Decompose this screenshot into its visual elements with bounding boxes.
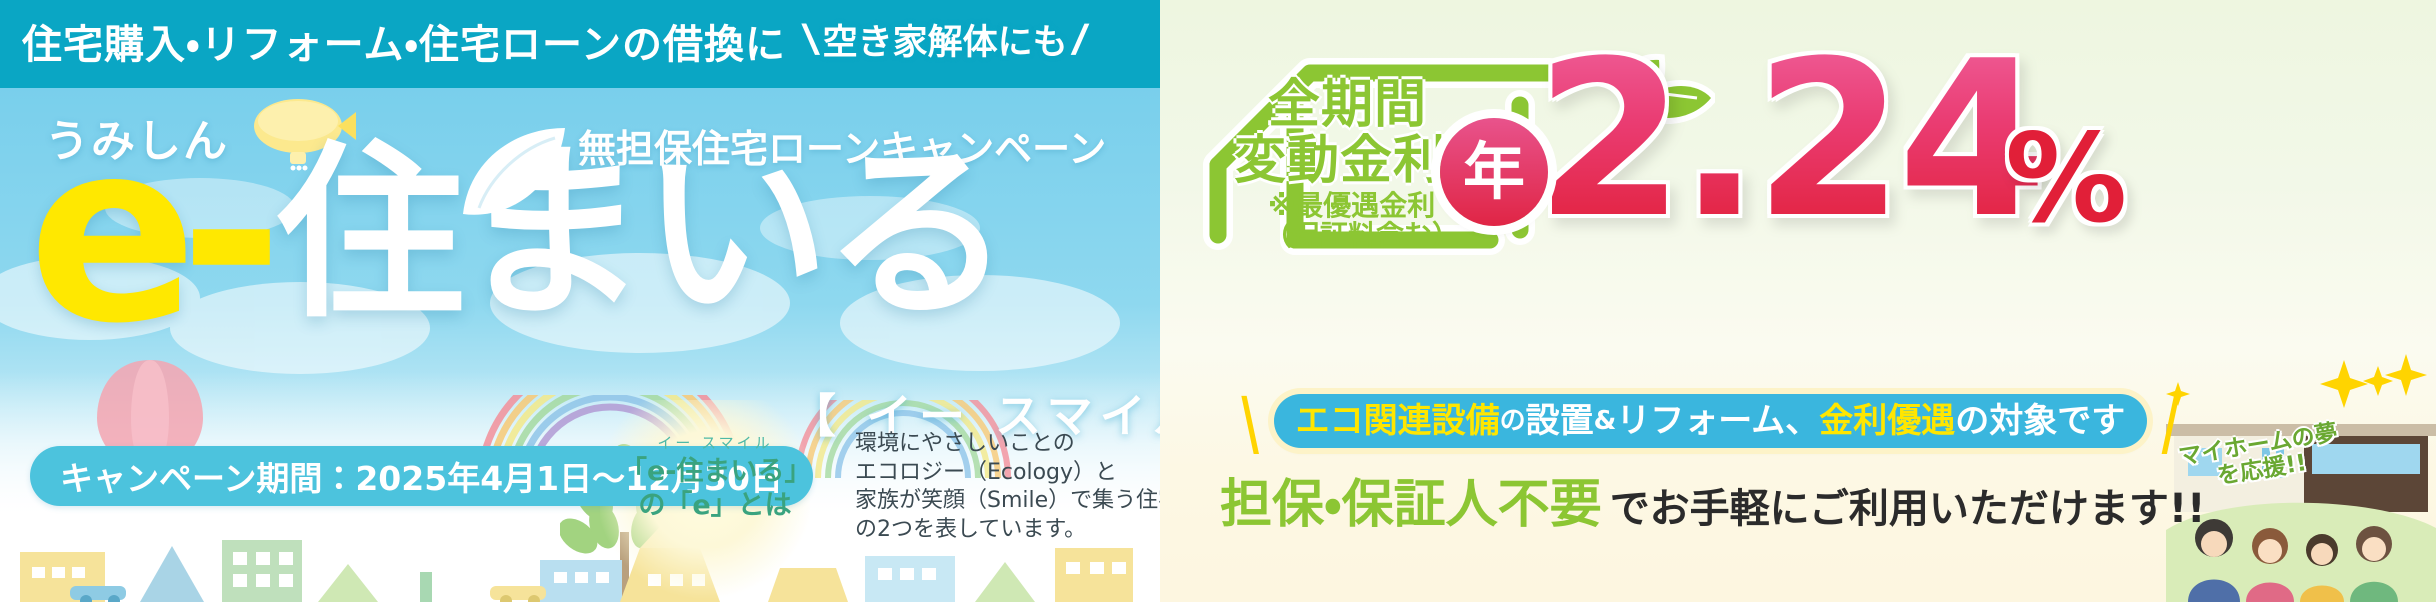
eco-seg5: リフォーム、 [1616, 404, 1819, 438]
percent-sign: % [2005, 118, 2127, 240]
eco-seg4: & [1594, 408, 1617, 434]
logo-dash: - [180, 135, 284, 330]
rate-unit-badge: 年 [1440, 118, 1548, 226]
eco-seg3: 設置 [1526, 404, 1594, 438]
logo-sumairu: 住まいる [277, 135, 1005, 335]
eco-seg1: エコ関連設備 [1296, 404, 1500, 438]
bank-loan-campaign-banner: 住宅購入・リフォーム・住宅ローンの借換に \ 空き家解体にも / うみしん e … [0, 0, 2436, 602]
house-badge-note2: （保証料含む） [1264, 214, 1460, 254]
ribbon-spark-right-icon: ❙ [2152, 392, 2191, 450]
headline-text: 住宅購入・リフォーム・住宅ローンの借換に [22, 12, 786, 70]
right-rate-panel: 全期間 変動金利型 ※最優遇金利 （保証料含む） 年 2.24 % ❙ [1160, 0, 2436, 602]
explain-line2: の「e」とは [620, 489, 810, 523]
explain-body: 環境にやさしいことの エコロジー（Ecology）と 家族が笑顔（Smile）で… [855, 430, 1155, 544]
left-campaign-panel: 住宅購入・リフォーム・住宅ローンの借換に \ 空き家解体にも / うみしん e … [0, 0, 1160, 602]
eco-seg2: の [1500, 408, 1526, 434]
tagline-highlight: 担保・保証人不要 [1220, 462, 1602, 537]
explain-body-line: 家族が笑顔（Smile）で集う住宅 [855, 487, 1155, 516]
rate-unit-label: 年 [1463, 141, 1525, 203]
sparkle-icon [2166, 354, 2427, 408]
explain-line1: 「e-住まいる」 [620, 455, 810, 489]
explain-body-line: 環境にやさしいことの [855, 430, 1155, 459]
explain-body-line: の2つを表しています。 [855, 516, 1155, 545]
leaf-icon [455, 122, 575, 232]
tagline-rest: でお手軽にご利用いただけます!! [1610, 476, 2206, 534]
interest-rate-value: 2.24 [1535, 32, 2041, 247]
explain-body-line: エコロジー（Ecology）と [855, 459, 1155, 488]
loan-tagline: 担保・保証人不要 でお手軽にご利用いただけます!! [1220, 462, 2205, 537]
explain-heading: イー スマイル 「e-住まいる」 の「e」とは [620, 432, 810, 523]
eco-ribbon-banner: ❙ エコ関連設備 の 設置 & リフォーム、 金利優遇 の対象です ❙ [1225, 392, 2196, 450]
akiya-badge: \ 空き家解体にも / [805, 14, 1085, 65]
eco-seg6: 金利優遇 [1819, 404, 1955, 438]
logo-letter-e: e [28, 135, 198, 330]
explain-ruby: イー スマイル [620, 432, 810, 453]
eco-ribbon-pill: エコ関連設備 の 設置 & リフォーム、 金利優遇 の対象です [1274, 394, 2148, 448]
ribbon-spark-left-icon: ❙ [1230, 392, 1269, 450]
akiya-badge-label: 空き家解体にも [823, 14, 1068, 65]
eco-seg7: の対象です [1955, 404, 2125, 438]
